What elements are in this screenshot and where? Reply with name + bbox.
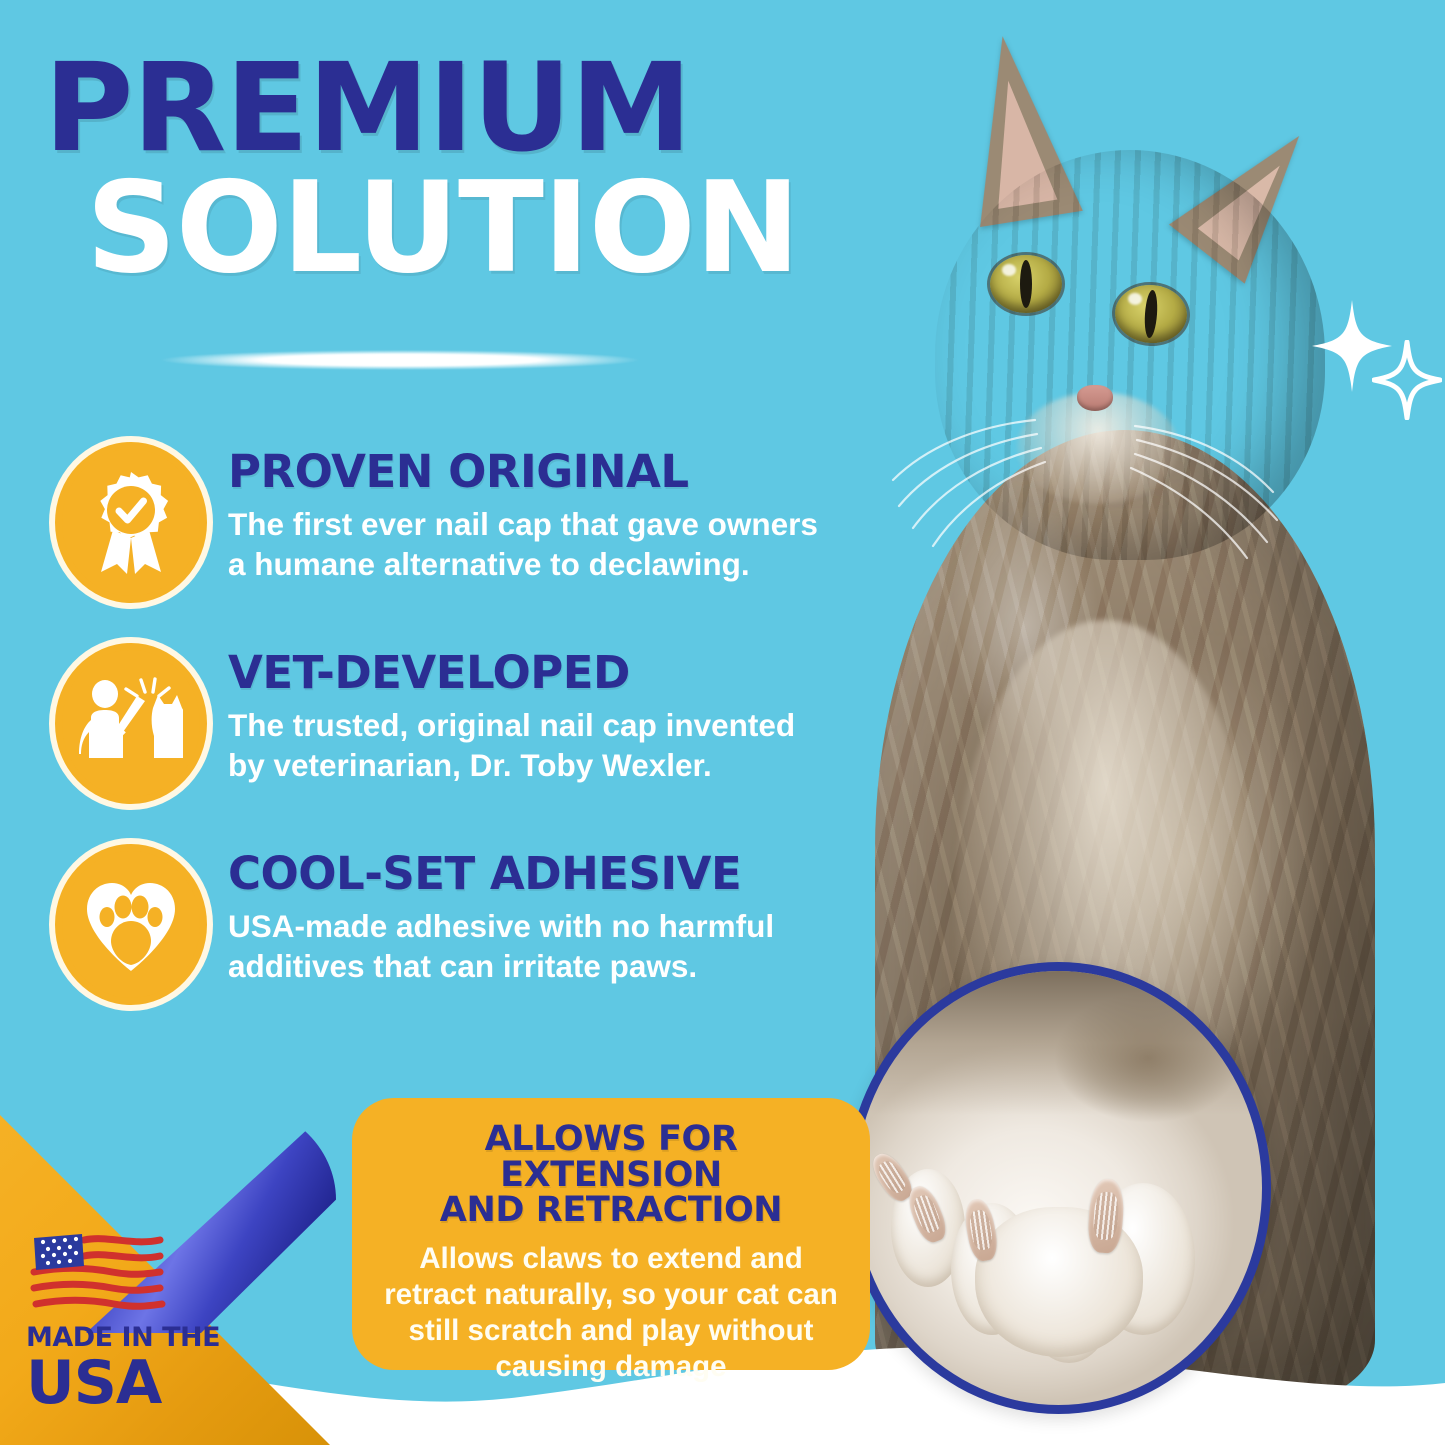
feature-item-cool-set-adhesive: COOL-SET ADHESIVE USA-made adhesive with… [56, 847, 846, 1002]
usa-flag-icon [26, 1232, 166, 1314]
headline: PREMIUM SOLUTION [44, 52, 864, 286]
callout-title-line1: ALLOWS FOR EXTENSION [485, 1119, 738, 1195]
feature-title: PROVEN ORIGINAL [228, 449, 818, 494]
made-in-the-label: MADE IN THE [26, 1324, 216, 1351]
cat-whiskers [885, 330, 1305, 580]
feature-title: VET-DEVELOPED [228, 650, 818, 695]
cat-paw-with-nail-caps-closeup [846, 962, 1271, 1414]
feature-body: The first ever nail cap that gave owners… [228, 504, 818, 585]
extension-retraction-callout: ALLOWS FOR EXTENSION AND RETRACTION Allo… [352, 1098, 870, 1370]
sparkle-star-outline-icon [1372, 340, 1442, 420]
made-in-usa-badge: MADE IN THE USA [26, 1232, 216, 1413]
feature-list: PROVEN ORIGINAL The first ever nail cap … [56, 445, 846, 1002]
product-feature-poster: PREMIUM SOLUTION PROVEN ORIGINAL [0, 0, 1445, 1445]
feature-body: USA-made adhesive with no harmful additi… [228, 906, 818, 987]
paw-fur-top [855, 971, 1262, 1121]
headline-line-solution: SOLUTION [86, 170, 864, 286]
feature-item-proven-original: PROVEN ORIGINAL The first ever nail cap … [56, 445, 846, 600]
callout-title-line2: AND RETRACTION [440, 1190, 782, 1230]
heart-paw-print-icon [56, 847, 206, 1002]
award-rosette-check-icon [56, 445, 206, 600]
callout-title: ALLOWS FOR EXTENSION AND RETRACTION [378, 1122, 844, 1229]
vet-high-five-cat-icon [56, 646, 206, 801]
usa-label: USA [26, 1353, 216, 1413]
feature-title: COOL-SET ADHESIVE [228, 851, 818, 896]
feature-body: The trusted, original nail cap invented … [228, 705, 818, 786]
made-in-usa-page-curl: MADE IN THE USA [0, 1115, 330, 1445]
cat-left-eye [990, 255, 1062, 313]
callout-body: Allows claws to extend and retract natur… [378, 1241, 844, 1385]
brushstroke-underline [160, 350, 640, 370]
feature-item-vet-developed: VET-DEVELOPED The trusted, original nail… [56, 646, 846, 801]
headline-line-premium: PREMIUM [44, 52, 864, 164]
